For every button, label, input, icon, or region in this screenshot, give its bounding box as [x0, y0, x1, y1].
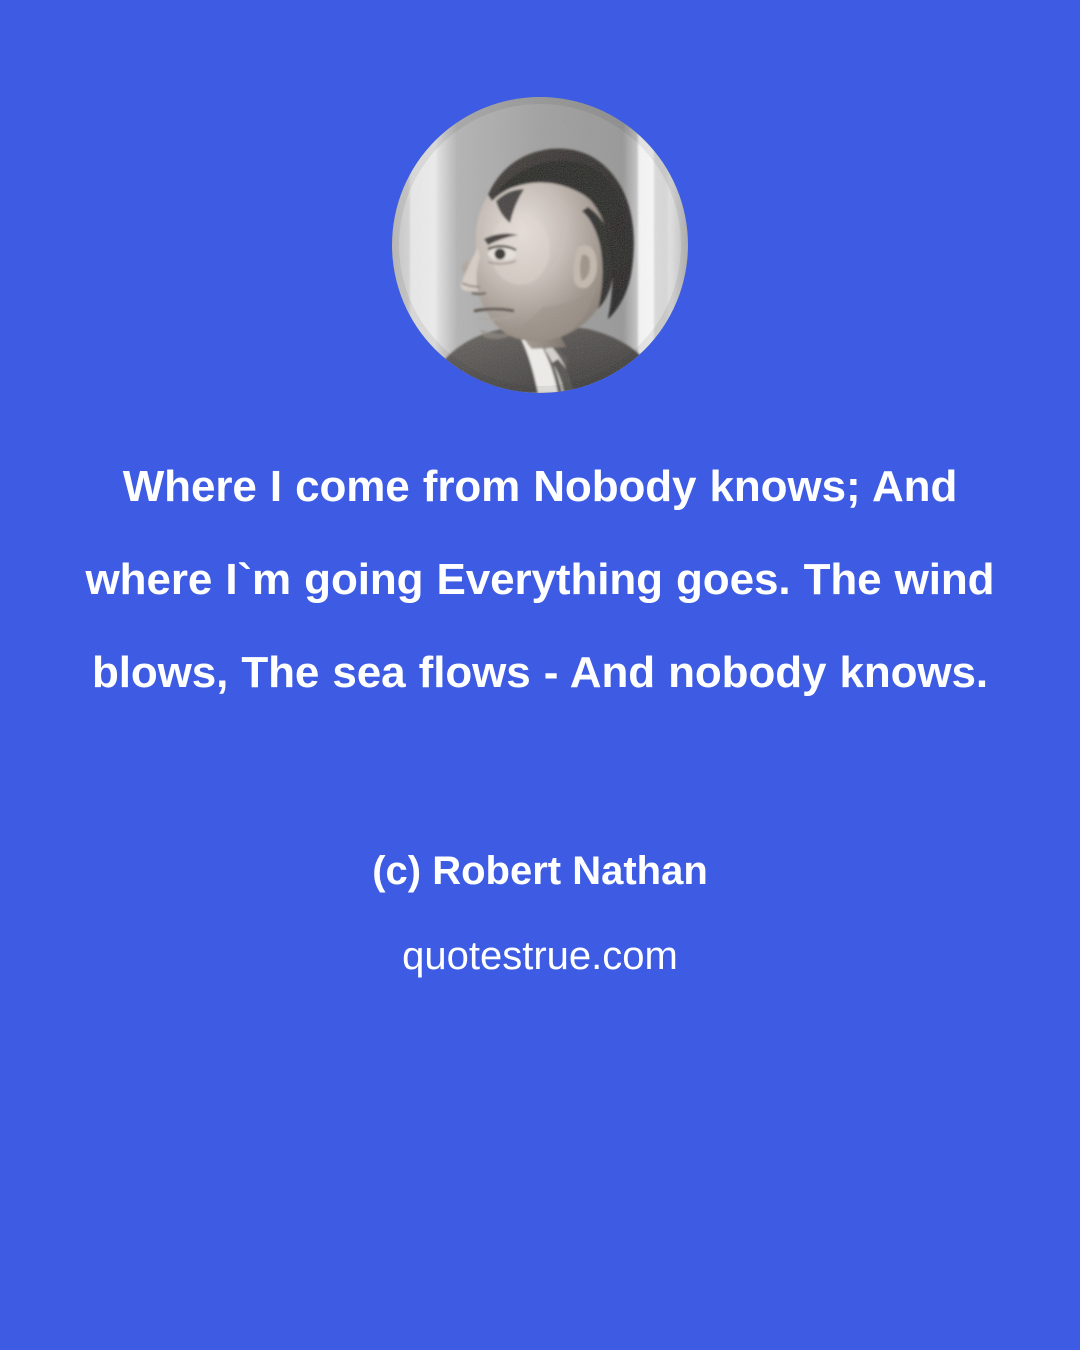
quote-attribution: (c) Robert Nathan — [0, 843, 1080, 899]
portrait-container — [392, 97, 688, 393]
quote-text: Where I come from Nobody knows; And wher… — [70, 440, 1010, 719]
quote-card: Where I come from Nobody knows; And wher… — [0, 0, 1080, 1350]
site-watermark: quotestrue.com — [0, 928, 1080, 984]
author-portrait — [392, 97, 688, 393]
